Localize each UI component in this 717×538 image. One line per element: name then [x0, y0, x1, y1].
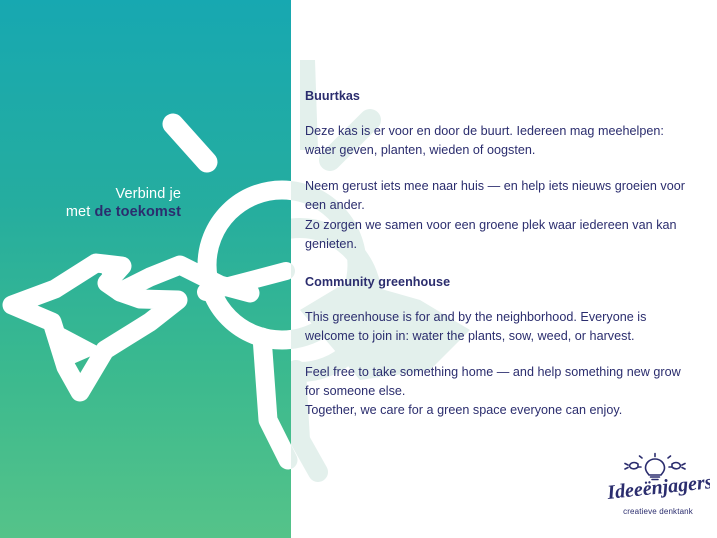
tagline-line-1: Verbind je — [0, 186, 181, 204]
paragraph-buurtkas-1: Deze kas is er voor en door de buurt. Ie… — [305, 122, 685, 160]
left-gradient-panel: Verbind je met de toekomst — [0, 0, 291, 538]
tagline-line-2: met de toekomst — [0, 204, 181, 222]
paragraph-greenhouse-1: This greenhouse is for and by the neighb… — [305, 308, 685, 346]
logo-wordmark-text: Ideeënjagers — [606, 478, 710, 504]
heading-buurtkas: Buurtkas — [305, 88, 685, 105]
ideeenjagers-bulb-butterfly-mark — [0, 0, 291, 538]
tagline-strong-text: de toekomst — [94, 204, 181, 220]
spacer — [305, 291, 685, 308]
tagline-light-text: met — [66, 204, 95, 220]
paragraph-greenhouse-2: Feel free to take something home — and h… — [305, 363, 685, 420]
logo-wordmark: Ideeënjagers — [606, 478, 710, 506]
spacer — [305, 346, 685, 363]
text-content-area: Buurtkas Deze kas is er voor en door de … — [305, 88, 685, 421]
spacer — [305, 160, 685, 177]
spacer — [305, 105, 685, 122]
paragraph-buurtkas-2: Neem gerust iets mee naar huis — en help… — [305, 177, 685, 254]
logo-subtitle: creatieve denktank — [606, 507, 710, 516]
ideeenjagers-logo: Ideeënjagers creatieve denktank — [606, 452, 710, 526]
slide-canvas: Verbind je met de toekomst — [0, 0, 717, 538]
spacer — [305, 254, 685, 274]
heading-community-greenhouse: Community greenhouse — [305, 274, 685, 291]
tagline: Verbind je met de toekomst — [0, 186, 181, 221]
